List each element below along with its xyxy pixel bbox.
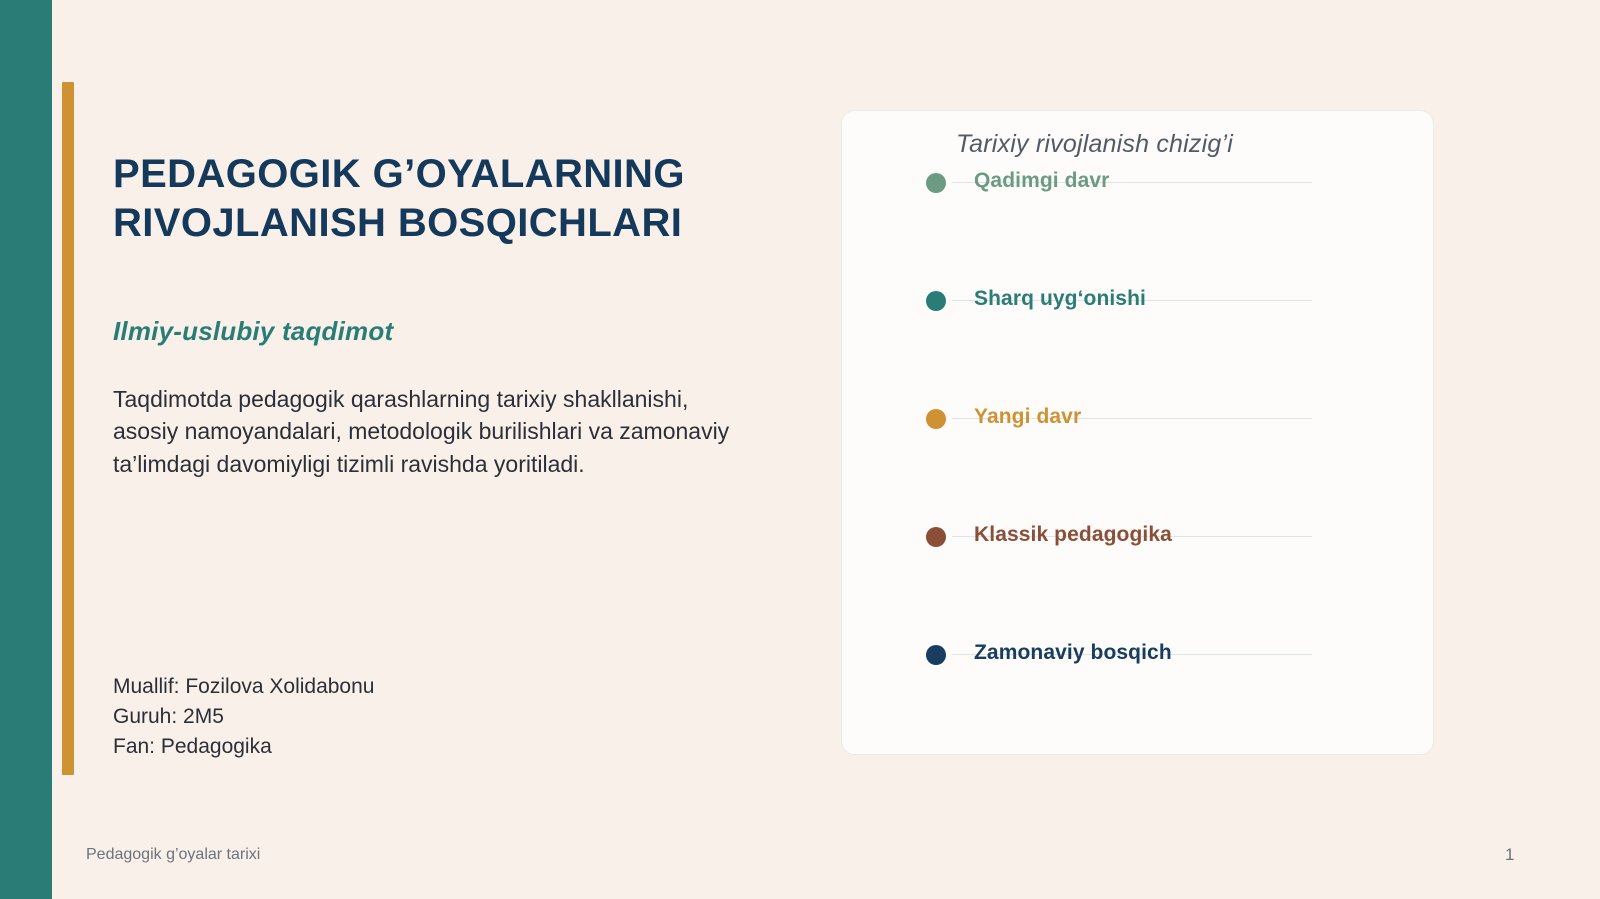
timeline-list: Qadimgi davr Sharq uyg‘onishi Yangi davr… bbox=[842, 163, 1435, 753]
slide: PEDAGOGIK G’OYALARNING RIVOJLANISH BOSQI… bbox=[0, 0, 1600, 899]
meta-subject: Fan: Pedagogika bbox=[113, 732, 374, 762]
timeline-item-label: Sharq uyg‘onishi bbox=[974, 287, 1146, 311]
left-accent-sidebar bbox=[0, 0, 52, 899]
body-paragraph: Taqdimotda pedagogik qarashlarning tarix… bbox=[113, 347, 753, 481]
page-subtitle: Ilmiy-uslubiy taqdimot bbox=[113, 248, 783, 347]
timeline-card: Tarixiy rivojlanish chizig’i Qadimgi dav… bbox=[841, 110, 1434, 755]
timeline-item: Yangi davr bbox=[842, 399, 1435, 517]
footer-note: Pedagogik g’oyalar tarixi bbox=[86, 846, 260, 864]
timeline-dot-icon bbox=[926, 645, 946, 665]
timeline-item: Klassik pedagogika bbox=[842, 517, 1435, 635]
timeline-item-label: Zamonaviy bosqich bbox=[974, 641, 1172, 665]
meta-author: Muallif: Fozilova Xolidabonu bbox=[113, 672, 374, 702]
timeline-card-title: Tarixiy rivojlanish chizig’i bbox=[956, 130, 1233, 159]
timeline-item-label: Yangi davr bbox=[974, 405, 1081, 429]
gold-accent-bar bbox=[62, 82, 74, 775]
page-number: 1 bbox=[1505, 845, 1514, 865]
timeline-item: Zamonaviy bosqich bbox=[842, 635, 1435, 753]
timeline-item-label: Klassik pedagogika bbox=[974, 523, 1172, 547]
timeline-dot-icon bbox=[926, 409, 946, 429]
timeline-dot-icon bbox=[926, 527, 946, 547]
timeline-item: Qadimgi davr bbox=[842, 163, 1435, 281]
timeline-dot-icon bbox=[926, 291, 946, 311]
timeline-dot-icon bbox=[926, 173, 946, 193]
timeline-item-label: Qadimgi davr bbox=[974, 169, 1109, 193]
left-content-column: PEDAGOGIK G’OYALARNING RIVOJLANISH BOSQI… bbox=[113, 150, 783, 481]
presentation-metadata: Muallif: Fozilova Xolidabonu Guruh: 2M5 … bbox=[113, 672, 374, 761]
page-title: PEDAGOGIK G’OYALARNING RIVOJLANISH BOSQI… bbox=[113, 150, 783, 248]
meta-group: Guruh: 2M5 bbox=[113, 702, 374, 732]
timeline-item: Sharq uyg‘onishi bbox=[842, 281, 1435, 399]
